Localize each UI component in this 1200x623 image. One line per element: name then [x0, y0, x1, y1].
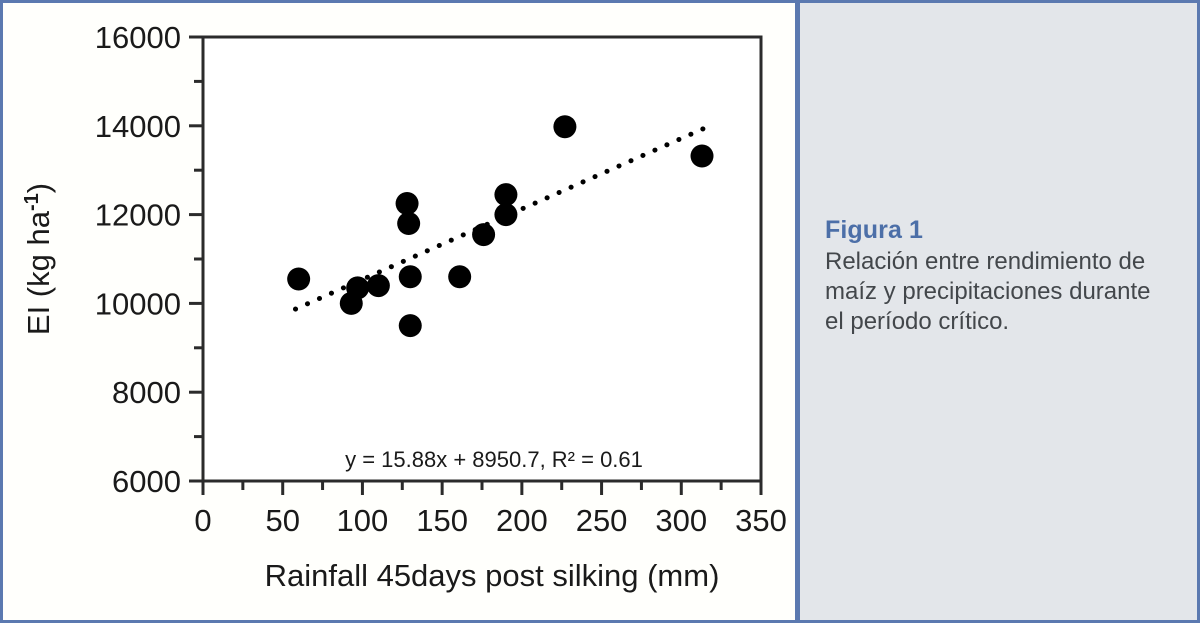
x-tick-label: 200 [496, 503, 548, 538]
data-point [399, 265, 422, 288]
data-point [494, 203, 517, 226]
y-tick-label: 6000 [112, 464, 181, 499]
figure-panel: 6000800010000120001400016000050100150200… [0, 0, 795, 623]
chart-svg: 6000800010000120001400016000050100150200… [3, 3, 792, 620]
data-point [553, 115, 576, 138]
caption-body: Relación entre rendimiento de maíz y pre… [825, 247, 1165, 338]
y-tick-label: 14000 [95, 109, 181, 144]
caption-block: Figura 1 Relación entre rendimiento de m… [825, 215, 1165, 337]
data-point [399, 314, 422, 337]
x-tick-label: 150 [416, 503, 468, 538]
data-point [397, 212, 420, 235]
data-point [691, 144, 714, 167]
y-axis-label: EI (kg ha-1) [21, 183, 56, 335]
y-tick-label: 8000 [112, 375, 181, 410]
data-point [287, 267, 310, 290]
y-axis-label-text: EI (kg ha-1) [21, 183, 56, 335]
x-tick-label: 350 [735, 503, 787, 538]
x-tick-label: 300 [655, 503, 707, 538]
y-tick-label: 16000 [95, 20, 181, 55]
data-point [472, 223, 495, 246]
plot-frame [203, 37, 761, 481]
y-tick-label: 10000 [95, 286, 181, 321]
x-tick-label: 100 [337, 503, 389, 538]
x-tick-label: 0 [194, 503, 211, 538]
regression-annotation: y = 15.88x + 8950.7, R² = 0.61 [345, 447, 643, 472]
x-axis-label: Rainfall 45days post silking (mm) [265, 558, 720, 593]
data-point [448, 265, 471, 288]
data-point [367, 274, 390, 297]
figure-with-caption: 6000800010000120001400016000050100150200… [0, 0, 1200, 623]
scatter-chart: 6000800010000120001400016000050100150200… [3, 3, 792, 620]
data-point [494, 183, 517, 206]
x-tick-label: 250 [576, 503, 628, 538]
y-tick-label: 12000 [95, 198, 181, 233]
data-point [346, 276, 369, 299]
caption-panel: Figura 1 Relación entre rendimiento de m… [800, 0, 1200, 623]
x-tick-label: 50 [265, 503, 299, 538]
data-point [396, 192, 419, 215]
caption-title: Figura 1 [825, 215, 1165, 246]
